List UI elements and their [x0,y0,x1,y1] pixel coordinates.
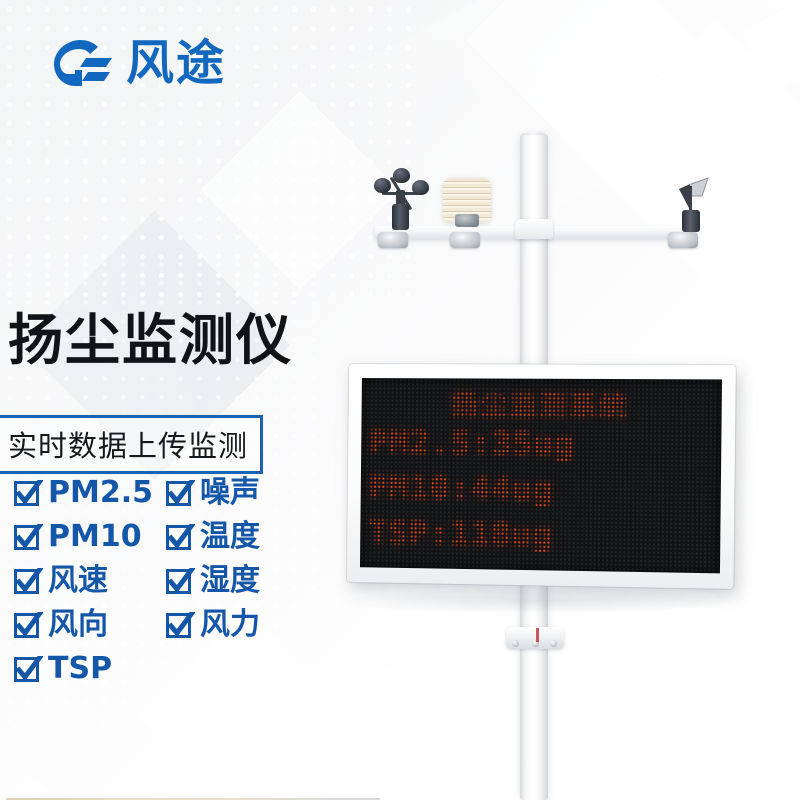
checkbox-checked-icon[interactable] [14,569,39,594]
feature-label: PM10 [48,522,142,552]
checkbox-checked-icon[interactable] [166,481,191,506]
cup-anemometer-icon [372,168,436,232]
sensor-mount-block-right [668,232,698,248]
crossarm-collar [515,219,553,239]
feature-label: 温度 [200,522,260,552]
feature-label: 风速 [48,566,108,596]
sensor-mount-block-left [378,232,408,248]
checkbox-checked-icon[interactable] [166,569,191,594]
checkbox-checked-icon[interactable] [166,613,191,638]
feature-item-pm25[interactable]: PM2.5 [14,478,166,508]
led-title: 扬尘监测系统 [361,383,721,425]
board-drop-shadow [340,588,730,614]
feature-label: 风向 [48,610,108,640]
page-title: 扬尘监测仪 [8,312,293,370]
checkbox-checked-icon[interactable] [14,613,39,638]
feature-label: 噪声 [200,478,260,508]
led-display-board: 扬尘监测系统 PM2.5:35ug PM10:44ug TSP:118ug [348,364,726,582]
clamp-marker [536,628,539,642]
pole-clamp [506,627,564,649]
product-poster: 风途 扬尘监测仪 实时数据上传监测 PM2.5 噪声 [0,0,800,800]
led-row-tsp: TSP:118ug [360,513,720,557]
checkbox-checked-icon[interactable] [14,481,39,506]
checkbox-checked-icon[interactable] [14,657,39,682]
checkbox-checked-icon[interactable] [166,525,191,550]
checkbox-checked-icon[interactable] [14,525,39,550]
feature-label: 湿度 [200,566,260,596]
feature-item-pm10[interactable]: PM10 [14,522,166,552]
feature-item-wind-direction[interactable]: 风向 [14,610,166,640]
led-screen: 扬尘监测系统 PM2.5:35ug PM10:44ug TSP:118ug [360,378,722,573]
sensor-mount-block-mid [450,232,480,248]
feature-item-wind-force[interactable]: 风力 [166,610,318,640]
feature-item-temperature[interactable]: 温度 [166,522,318,552]
feature-item-tsp[interactable]: TSP [14,654,166,684]
feature-label: PM2.5 [48,478,153,508]
brand-name: 风途 [126,39,226,87]
led-row-pm10: PM10:44ug [361,468,721,511]
fengtu-g-logo-icon [44,34,120,92]
brand-logo: 风途 [44,34,226,92]
feature-label: TSP [48,654,112,684]
led-row-pm25: PM2.5:35ug [361,423,721,465]
feature-item-wind-speed[interactable]: 风速 [14,566,166,596]
page-subtitle: 实时数据上传监测 [8,429,248,463]
feature-item-noise[interactable]: 噪声 [166,478,318,508]
feature-item-humidity[interactable]: 湿度 [166,566,318,596]
radiation-shield-icon [443,178,491,234]
feature-label: 风力 [200,610,260,640]
feature-checklist: PM2.5 噪声 PM10 温度 [14,478,318,684]
subtitle-box: 实时数据上传监测 [0,415,263,474]
wind-vane-icon [668,176,716,234]
